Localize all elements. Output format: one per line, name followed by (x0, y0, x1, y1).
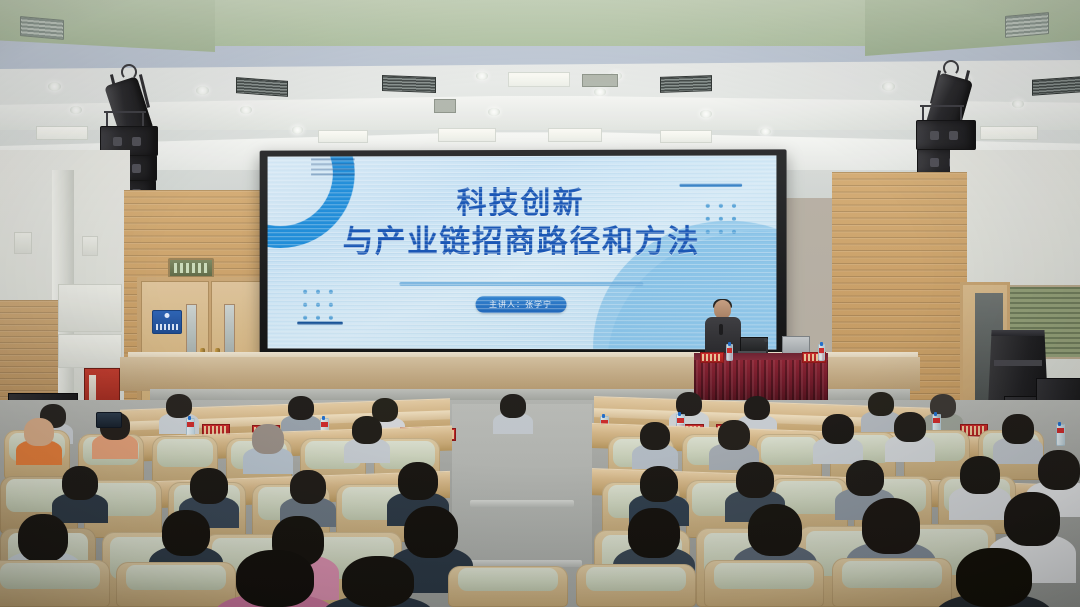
slide-title: 科技创新 与产业链招商路径和方法 (268, 186, 777, 262)
downlight-icon (1012, 100, 1024, 108)
smartphone-icon (96, 412, 122, 428)
wall-plate (82, 236, 98, 256)
auditorium-chair[interactable] (832, 558, 952, 607)
audience-person (24, 418, 54, 446)
audience-person (500, 394, 526, 418)
ceiling-vent (434, 99, 456, 113)
audience-person (1004, 492, 1060, 546)
ceiling-grille (382, 75, 436, 93)
air-vent-icon (1005, 12, 1049, 38)
audience-person (846, 460, 884, 496)
audience-person (190, 468, 228, 504)
audience-person (822, 414, 854, 444)
ceiling-panel-light (438, 128, 496, 142)
ceiling-panel-light (318, 130, 368, 143)
downlight-icon (476, 72, 488, 80)
audience-person (342, 556, 414, 607)
audience-person (166, 394, 192, 418)
audience-person (862, 498, 920, 554)
audience-person (868, 392, 894, 416)
presenter-badge: 主讲人：张学宁 (475, 296, 566, 313)
audience-person (18, 514, 68, 562)
slide-title-underline (399, 282, 643, 286)
emergency-exit-sign-icon (152, 310, 182, 334)
water-bottle (1056, 424, 1065, 446)
downlight-icon (196, 86, 209, 95)
audience-person (736, 462, 774, 498)
audience-person (640, 422, 670, 450)
audience-person (628, 508, 680, 558)
downlight-icon (488, 108, 500, 116)
water-bottle (818, 344, 825, 361)
audience-person (236, 550, 314, 607)
audience-person (352, 416, 382, 444)
audience-person (290, 470, 326, 504)
audience-person (1038, 450, 1080, 490)
auditorium-chair[interactable] (576, 564, 696, 607)
audience-person (162, 510, 210, 556)
slide-title-line2: 与产业链招商路径和方法 (268, 222, 777, 262)
ceiling-panel-light (36, 126, 88, 140)
audience-person (398, 462, 438, 500)
wall-notice-board (58, 334, 122, 368)
water-bottle (726, 344, 733, 361)
name-card (700, 352, 724, 363)
auditorium-chair[interactable] (0, 560, 110, 607)
audience-person (1002, 414, 1034, 444)
downlight-icon (48, 82, 61, 91)
audience-person (718, 420, 750, 450)
audience-person (894, 412, 926, 442)
wall-notice-board (58, 284, 122, 332)
audience-person (288, 396, 314, 420)
audience-person (960, 456, 1000, 494)
ceiling-panel-light (980, 126, 1038, 140)
conference-hall-screenshot: 科技创新 与产业链招商路径和方法 主讲人：张学宁 (0, 0, 1080, 607)
presentation-slide: 科技创新 与产业链招商路径和方法 主讲人：张学宁 (268, 155, 777, 349)
downlight-icon (594, 88, 606, 96)
ceiling-panel-light (548, 128, 602, 142)
ceiling-vent (582, 74, 618, 87)
slide-title-line1: 科技创新 (268, 186, 777, 223)
audience-person (744, 396, 770, 420)
audience-person (956, 548, 1032, 607)
downlight-icon (70, 106, 82, 114)
ceiling-grille (1032, 76, 1080, 95)
ceiling-soffit-center (215, 0, 865, 46)
wall-plate (14, 232, 32, 254)
slide-dash-bottom-left (297, 322, 343, 325)
audience-person (404, 506, 458, 558)
downlight-icon (240, 106, 252, 114)
auditorium-chair[interactable] (704, 560, 824, 607)
air-vent-icon (20, 16, 64, 40)
downlight-icon (700, 110, 712, 118)
downlight-icon (292, 126, 303, 134)
audience-person (252, 424, 284, 454)
ceiling-panel-light (508, 72, 570, 87)
dot-grid-left-icon (303, 290, 333, 320)
audience-person (62, 466, 98, 500)
auditorium-chair[interactable] (116, 562, 236, 607)
ceiling-panel-light (660, 130, 712, 143)
downlight-icon (882, 82, 895, 91)
aisle-step (470, 500, 574, 507)
downlight-icon (760, 128, 771, 135)
exit-sign (168, 258, 214, 278)
auditorium-chair[interactable] (448, 566, 568, 607)
slide-corner-logo (311, 158, 355, 176)
audience-person (748, 504, 802, 556)
presenter-person (704, 300, 742, 358)
ceiling-grille (660, 75, 712, 93)
microphone-icon (764, 338, 768, 342)
audience-person (640, 466, 678, 502)
